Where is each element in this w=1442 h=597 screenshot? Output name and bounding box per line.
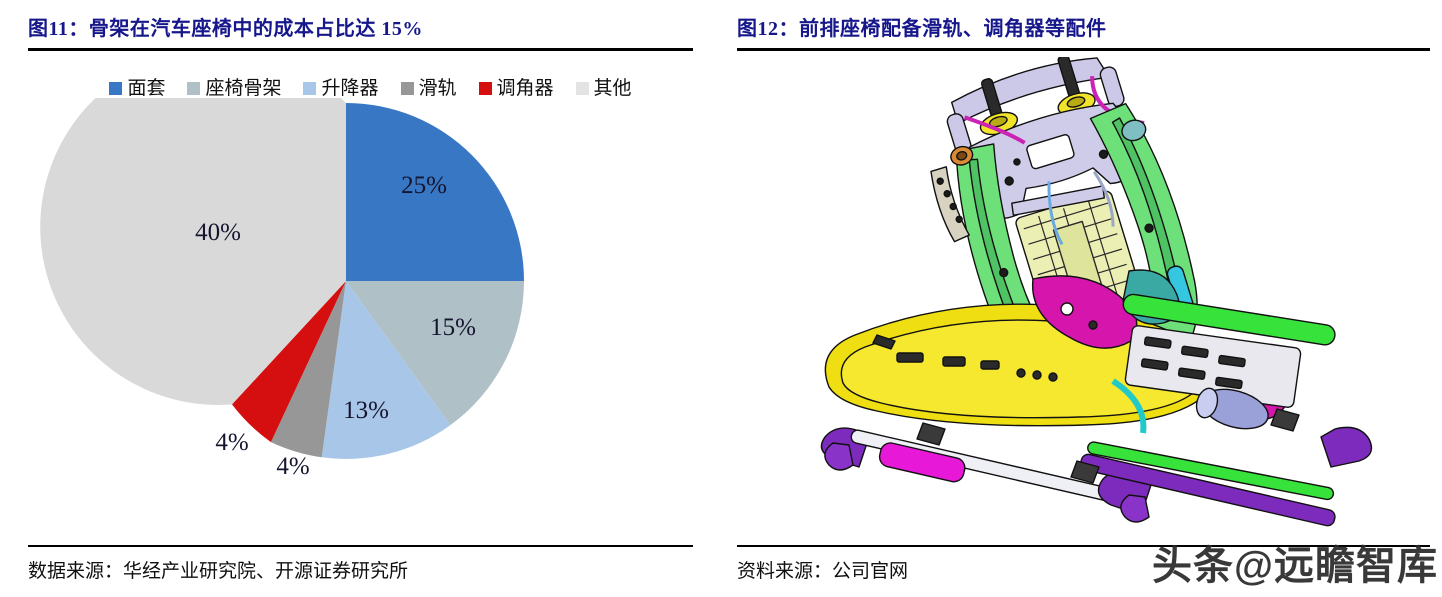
left-footer-rule — [28, 545, 693, 547]
legend-swatch-icon — [401, 82, 414, 95]
right-title-rule — [737, 48, 1430, 51]
pie-label-zuoyi-guja: 15% — [430, 314, 476, 341]
right-figure-panel: 图12：前排座椅配备滑轨、调角器等配件 — [721, 0, 1442, 597]
left-figure-panel: 图11：骨架在汽车座椅中的成本占比达 15% 面套 座椅骨架 升降器 滑轨 — [0, 0, 721, 597]
left-title-rule — [28, 48, 693, 51]
left-source-text: 数据来源：华经产业研究院、开源证券研究所 — [28, 556, 693, 583]
legend-label: 座椅骨架 — [205, 79, 281, 98]
legend-swatch-icon — [187, 82, 200, 95]
legend-label: 滑轨 — [419, 79, 457, 98]
pie-label-huagui: 4% — [276, 453, 309, 480]
legend-item-zuoyi-guja: 座椅骨架 — [187, 79, 281, 98]
legend-item-shengjiangqi: 升降器 — [303, 79, 378, 98]
legend-swatch-icon — [479, 82, 492, 95]
legend-label: 其他 — [594, 79, 632, 98]
pie-label-tiaojiaoqi: 4% — [215, 429, 248, 456]
legend-label: 升降器 — [321, 79, 378, 98]
legend-label: 调角器 — [497, 79, 554, 98]
pie-chart-svg: 25% 15% 13% 4% 4% 40% — [28, 98, 693, 490]
legend-item-mian-tao: 面套 — [109, 79, 165, 98]
seat-frame-illustration — [737, 57, 1430, 527]
pie-label-qita: 40% — [195, 219, 241, 246]
legend-swatch-icon — [109, 82, 122, 95]
left-figure-title: 图11：骨架在汽车座椅中的成本占比达 15% — [28, 0, 693, 40]
legend-item-tiaojiaoqi: 调角器 — [479, 79, 554, 98]
pie-legend: 面套 座椅骨架 升降器 滑轨 调角器 其他 — [28, 79, 693, 98]
seat-frame-image — [737, 57, 1430, 527]
legend-swatch-icon — [303, 82, 316, 95]
watermark-text: 头条@远瞻智库 — [1152, 533, 1438, 591]
right-figure-title: 图12：前排座椅配备滑轨、调角器等配件 — [737, 0, 1430, 40]
legend-swatch-icon — [576, 82, 589, 95]
legend-label: 面套 — [127, 79, 165, 98]
figure-page: 图11：骨架在汽车座椅中的成本占比达 15% 面套 座椅骨架 升降器 滑轨 — [0, 0, 1442, 597]
legend-item-qita: 其他 — [576, 79, 632, 98]
pie-label-mian-tao: 25% — [401, 172, 447, 199]
legend-item-huagui: 滑轨 — [401, 79, 457, 98]
pie-chart-area: 25% 15% 13% 4% 4% 40% — [28, 98, 693, 490]
pie-label-shengjiangqi: 13% — [343, 397, 389, 424]
left-footer: 数据来源：华经产业研究院、开源证券研究所 — [28, 545, 693, 583]
